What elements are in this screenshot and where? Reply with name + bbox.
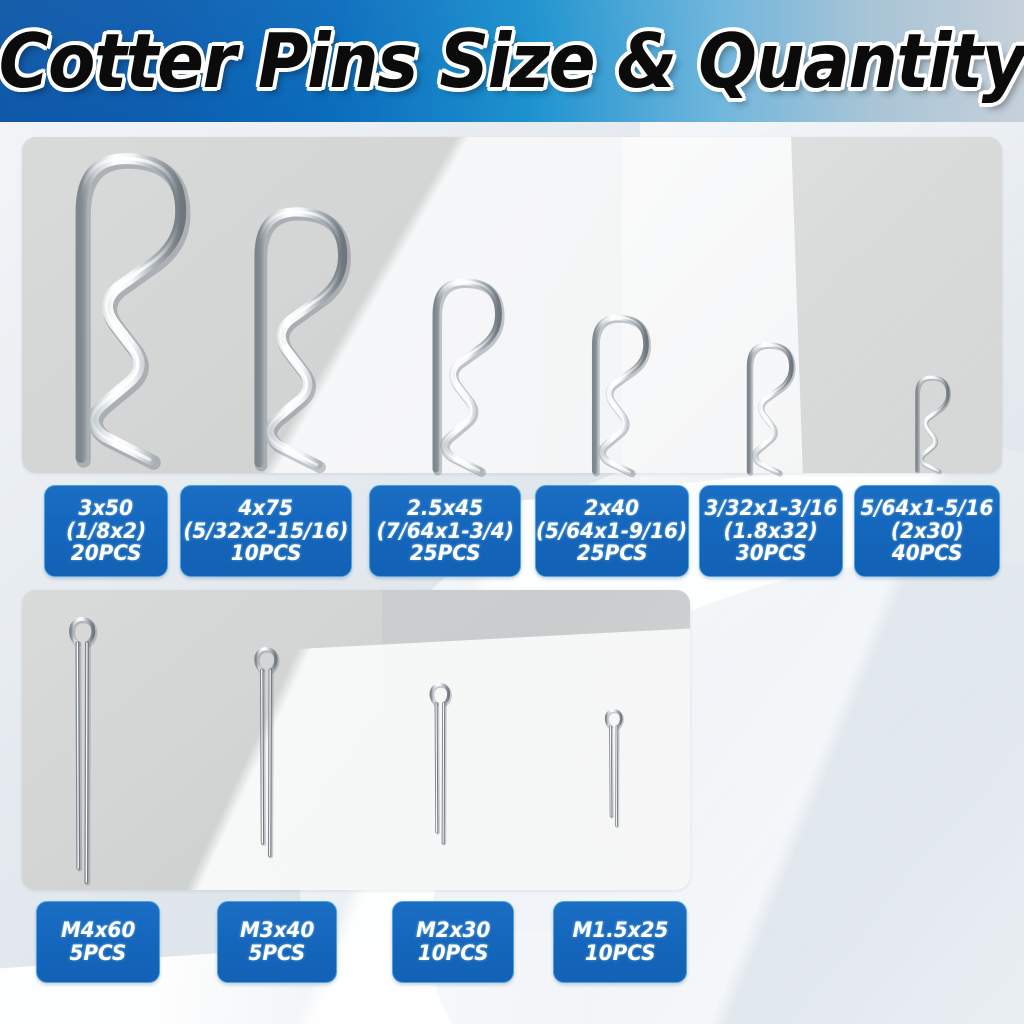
chip-size-metric: 2x40 xyxy=(585,497,640,520)
chip-size-metric: M3x40 xyxy=(240,919,314,942)
size-chip-7[interactable]: M4x60 5PCS xyxy=(36,901,160,983)
header-banner: Cotter Pins Size & Quantity xyxy=(0,0,1024,122)
r-clip-pin-1 xyxy=(62,148,215,479)
r-clip-pin-3 xyxy=(424,275,520,482)
chip-quantity: 40PCS xyxy=(892,542,963,565)
chip-size-metric: M4x60 xyxy=(61,919,135,942)
chip-quantity: 25PCS xyxy=(410,542,481,565)
size-chip-2[interactable]: 4x75 (5/32x2-15/16) 10PCS xyxy=(180,485,352,577)
cotter-pin-1 xyxy=(62,617,102,887)
cotter-pin-4 xyxy=(600,709,627,829)
size-chip-3[interactable]: 2.5x45 (7/64x1-3/4) 25PCS xyxy=(369,485,521,577)
panel-gradient xyxy=(22,590,690,890)
cotter-pin-product-panel xyxy=(22,590,690,890)
size-chip-5[interactable]: 3/32x1-3/16 (1.8x32) 30PCS xyxy=(699,485,843,577)
chip-quantity: 20PCS xyxy=(71,542,142,565)
chip-size-metric: 3/32x1-3/16 xyxy=(705,497,838,520)
chip-quantity: 5PCS xyxy=(70,942,127,965)
chip-size-imperial: (2x30) xyxy=(891,520,964,543)
r-clip-pin-2 xyxy=(243,203,371,481)
chip-size-imperial: (5/64x1-9/16) xyxy=(536,520,687,543)
chip-size-metric: 3x50 xyxy=(79,497,134,520)
infographic-page: Cotter Pins Size & Quantity 3x50 (1/8x2)… xyxy=(0,0,1024,1024)
chip-size-metric: 5/64x1-5/16 xyxy=(861,497,994,520)
size-chip-8[interactable]: M3x40 5PCS xyxy=(217,901,337,983)
chip-size-metric: M1.5x25 xyxy=(572,919,668,942)
chip-size-metric: 4x75 xyxy=(239,497,294,520)
r-clip-pin-4 xyxy=(585,312,663,482)
chip-quantity: 25PCS xyxy=(577,542,648,565)
chip-size-imperial: (1/8x2) xyxy=(66,520,146,543)
chip-size-metric: 2.5x45 xyxy=(407,497,483,520)
cotter-pin-3 xyxy=(424,683,456,846)
chip-size-imperial: (1.8x32) xyxy=(724,520,818,543)
chip-quantity: 10PCS xyxy=(418,942,489,965)
page-title: Cotter Pins Size & Quantity xyxy=(41,0,983,122)
chip-quantity: 10PCS xyxy=(585,942,656,965)
size-chip-10[interactable]: M1.5x25 10PCS xyxy=(553,901,687,983)
size-chip-4[interactable]: 2x40 (5/64x1-9/16) 25PCS xyxy=(535,485,689,577)
chip-size-metric: M2x30 xyxy=(416,919,490,942)
size-chip-1[interactable]: 3x50 (1/8x2) 20PCS xyxy=(44,485,168,577)
chip-size-imperial: (7/64x1-3/4) xyxy=(376,520,513,543)
size-chip-9[interactable]: M2x30 10PCS xyxy=(392,901,514,983)
r-clip-pin-5 xyxy=(741,340,806,480)
size-chip-6[interactable]: 5/64x1-5/16 (2x30) 40PCS xyxy=(854,485,1000,577)
r-clip-pin-6 xyxy=(911,374,959,477)
chip-quantity: 30PCS xyxy=(736,542,807,565)
cotter-pin-2 xyxy=(248,647,284,860)
chip-quantity: 10PCS xyxy=(231,542,302,565)
chip-size-imperial: (5/32x2-15/16) xyxy=(183,520,348,543)
chip-quantity: 5PCS xyxy=(249,942,306,965)
